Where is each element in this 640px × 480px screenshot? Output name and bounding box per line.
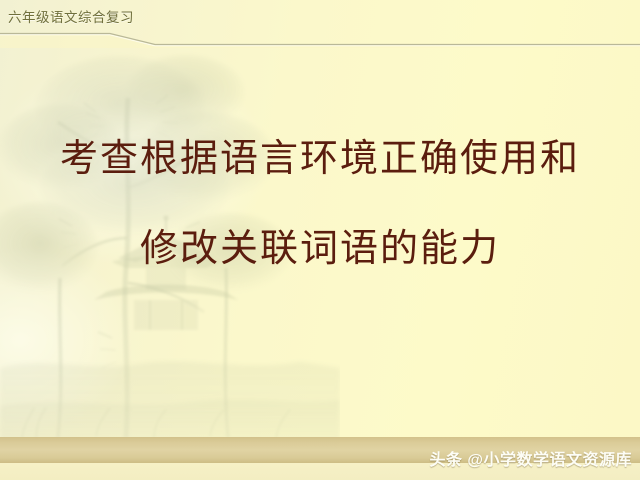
header-band: 六年级语文综合复习 — [0, 0, 640, 48]
title-line-1: 考查根据语言环境正确使用和 — [0, 140, 640, 178]
source-watermark: 头条 @小学数学语文资源库 — [429, 446, 632, 470]
title-line-2: 修改关联词语的能力 — [0, 230, 640, 268]
title-block: 考查根据语言环境正确使用和 修改关联词语的能力 — [0, 140, 640, 268]
header-tab-label: 六年级语文综合复习 — [8, 6, 134, 26]
slide-canvas: 六年级语文综合复习 考查根据语言环境正确使用和 修改关联词语的能力 头条 @小学… — [0, 0, 640, 480]
